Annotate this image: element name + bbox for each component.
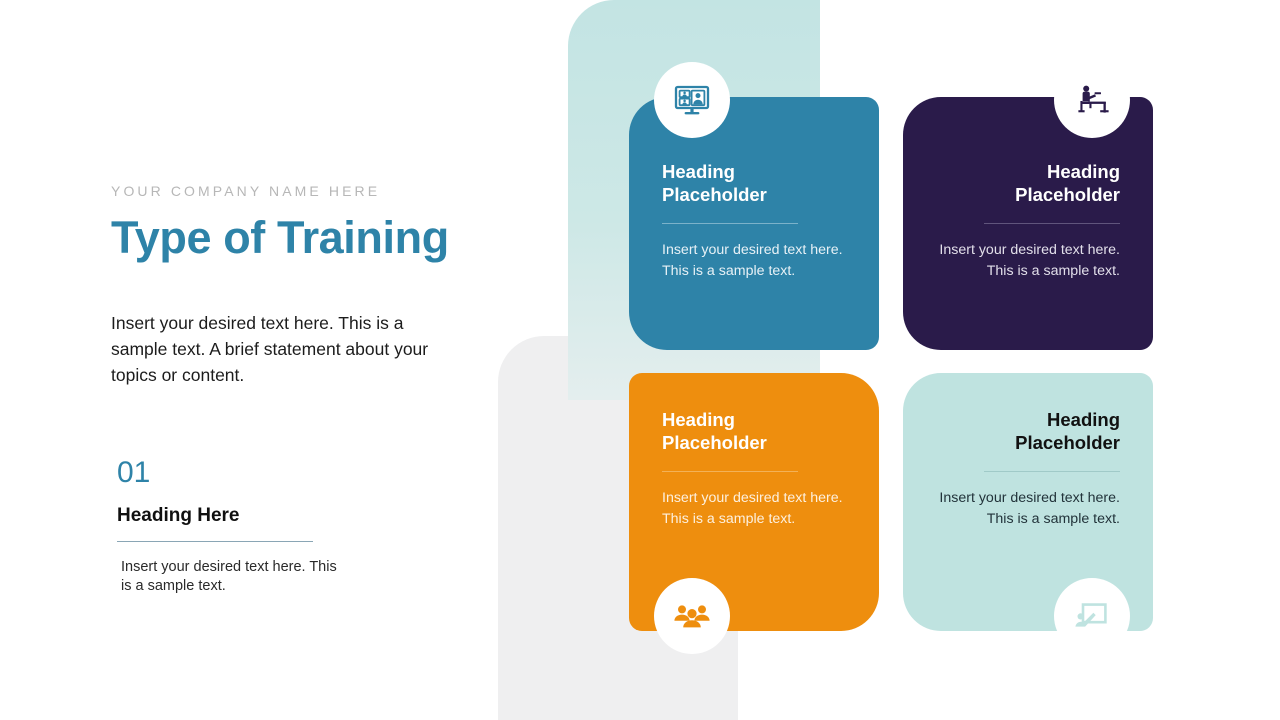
- card-body-text: Insert your desired text here. This is a…: [929, 240, 1120, 282]
- title-panel: YOUR COMPANY NAME HERE Type of Training …: [111, 183, 511, 389]
- card-title: HeadingPlaceholder: [662, 408, 853, 454]
- company-name-label: YOUR COMPANY NAME HERE: [111, 183, 511, 199]
- video-conference-icon: [654, 62, 730, 138]
- step-heading: Heading Here: [117, 506, 447, 527]
- step-body-text: Insert your desired text here. This is a…: [121, 558, 351, 597]
- card-title: HeadingPlaceholder: [929, 160, 1120, 206]
- card-divider: [984, 471, 1120, 472]
- card-title: HeadingPlaceholder: [662, 160, 853, 206]
- group-of-people-icon: [654, 578, 730, 654]
- card-virtual-training[interactable]: HeadingPlaceholder Insert your desired t…: [629, 97, 879, 350]
- card-body-text: Insert your desired text here. This is a…: [929, 488, 1120, 530]
- card-on-the-job-training[interactable]: HeadingPlaceholder Insert your desired t…: [903, 97, 1153, 350]
- numbered-highlight-block: 01 Heading Here Insert your desired text…: [117, 458, 447, 596]
- card-body-text: Insert your desired text here. This is a…: [662, 240, 853, 282]
- card-divider: [662, 223, 798, 224]
- presentation-board-icon: [1054, 578, 1130, 654]
- person-at-desk-icon: [1054, 62, 1130, 138]
- page-title: Type of Training: [111, 213, 511, 263]
- step-divider: [117, 541, 313, 542]
- card-divider: [662, 471, 798, 472]
- intro-paragraph: Insert your desired text here. This is a…: [111, 311, 456, 388]
- card-title: HeadingPlaceholder: [929, 408, 1120, 454]
- card-body-text: Insert your desired text here. This is a…: [662, 488, 853, 530]
- step-number: 01: [117, 458, 447, 488]
- card-divider: [984, 223, 1120, 224]
